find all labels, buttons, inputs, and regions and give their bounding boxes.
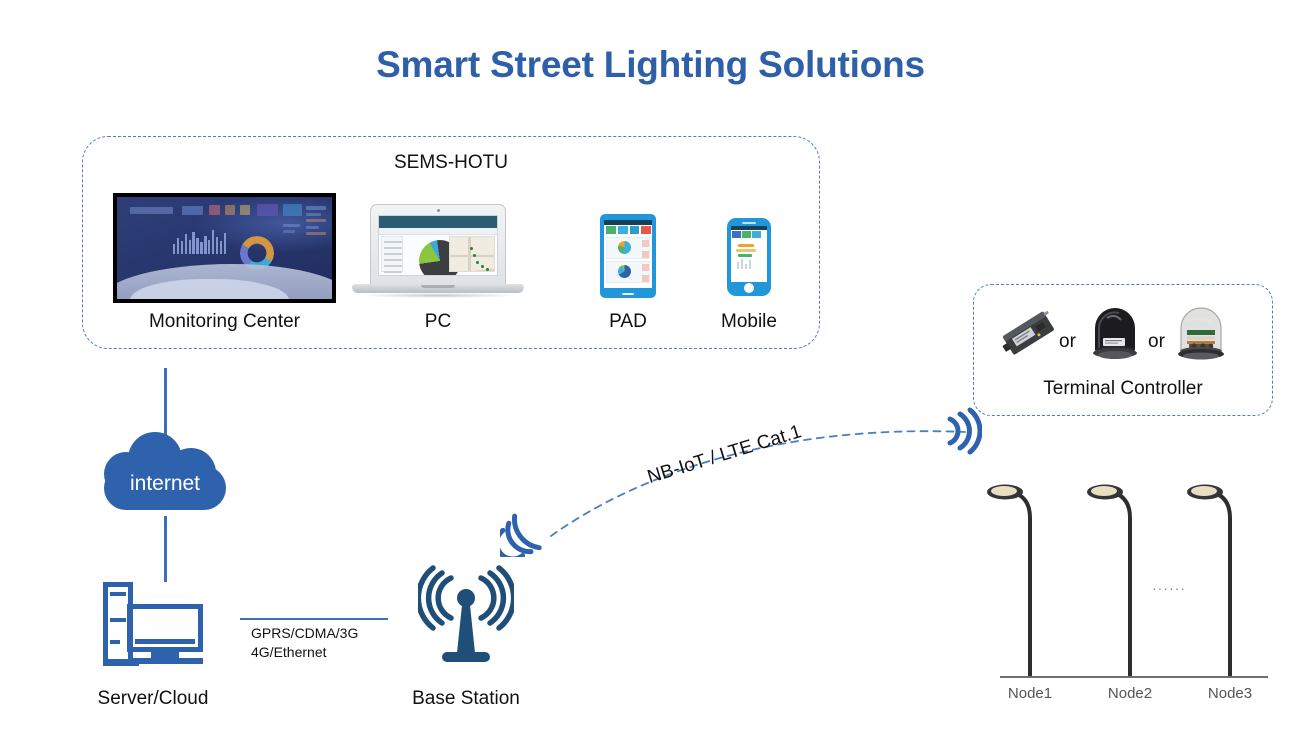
connector-cloud-to-server	[164, 516, 167, 582]
connector-panel-to-cloud	[164, 368, 167, 442]
lamps-ellipsis: ······	[1152, 580, 1186, 596]
laptop-icon	[352, 204, 524, 300]
monitoring-center-photo	[113, 193, 336, 303]
street-lamp-2	[1087, 485, 1130, 677]
or-separator-2: or	[1148, 331, 1165, 353]
or-separator-1: or	[1059, 331, 1076, 353]
street-lamp-group	[985, 470, 1275, 685]
diagram-canvas: Smart Street Lighting Solutions SEMS-HOT…	[0, 0, 1301, 729]
led-driver-box	[1000, 306, 1058, 362]
node-label-2: Node2	[1085, 685, 1175, 702]
backhaul-label-line2: 4G/Ethernet	[251, 643, 358, 662]
tablet-icon	[600, 214, 656, 298]
node-label-3: Node3	[1185, 685, 1275, 702]
sems-hotu-title: SEMS-HOTU	[82, 152, 820, 174]
node-label-1: Node1	[985, 685, 1075, 702]
backhaul-label: GPRS/CDMA/3G 4G/Ethernet	[251, 624, 358, 662]
street-lamp-1	[987, 485, 1030, 677]
page-title: Smart Street Lighting Solutions	[0, 44, 1301, 86]
pc-label: PC	[352, 311, 524, 333]
base-station-icon	[418, 565, 514, 670]
monitoring-center-label: Monitoring Center	[113, 311, 336, 333]
street-lamp-3	[1187, 485, 1230, 677]
internet-label: internet	[104, 472, 226, 496]
base-station-label: Base Station	[386, 688, 546, 710]
internet-cloud-icon: internet	[104, 432, 226, 510]
ground-line	[1000, 676, 1268, 678]
transparent-dome-controller	[1173, 302, 1229, 364]
connector-server-to-base-station	[240, 618, 388, 620]
terminal-wireless-signal-icon	[938, 405, 982, 455]
server-cloud-icon	[103, 582, 203, 668]
mobile-label: Mobile	[693, 311, 805, 333]
backhaul-label-line1: GPRS/CDMA/3G	[251, 624, 358, 643]
black-dome-controller	[1089, 302, 1141, 364]
terminal-controller-label: Terminal Controller	[973, 378, 1273, 400]
server-cloud-label: Server/Cloud	[73, 688, 233, 710]
smartphone-icon	[727, 218, 771, 296]
pad-label: PAD	[572, 311, 684, 333]
wireless-signal-icon	[500, 505, 546, 557]
